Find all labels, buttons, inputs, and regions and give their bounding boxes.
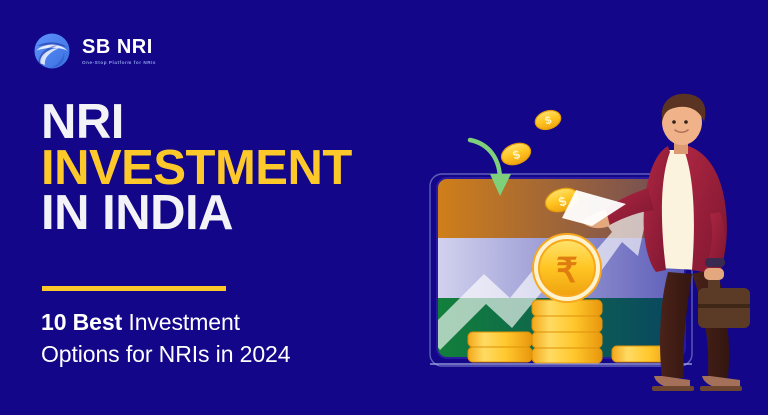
- headline-line-3: IN INDIA: [41, 191, 352, 237]
- subtitle: 10 Best Investment Options for NRIs in 2…: [41, 307, 290, 370]
- globe-swirl-icon: [31, 30, 73, 72]
- coin-stack-left: [468, 332, 532, 362]
- eye-left: [672, 120, 676, 124]
- rupee-coin: ₹: [532, 233, 602, 303]
- wristwatch: [705, 258, 725, 267]
- subtitle-line-1: 10 Best Investment: [41, 307, 290, 339]
- headline-line-2: INVESTMENT: [41, 146, 352, 192]
- banner-root: SB NRI One-Stop Platform for NRIs NRI IN…: [0, 0, 768, 415]
- accent-divider: [42, 286, 226, 291]
- page-title: NRI INVESTMENT IN INDIA: [41, 100, 352, 237]
- subtitle-line-2: Options for NRIs in 2024: [41, 339, 290, 371]
- coin-stack-center: [532, 300, 602, 363]
- falling-coin-2: $: [498, 139, 533, 168]
- brand-logo-text: SB NRI One-Stop Platform for NRIs: [82, 37, 156, 65]
- trousers-left: [660, 272, 692, 378]
- hand-holding: [704, 268, 724, 280]
- illustration-svg: $ $ $: [416, 92, 768, 392]
- headline-line-1: NRI: [41, 100, 352, 146]
- hero-illustration: $ $ $: [416, 92, 768, 392]
- falling-coin-1: $: [533, 107, 563, 132]
- subtitle-strong: 10 Best: [41, 309, 122, 335]
- brand-tagline: One-Stop Platform for NRIs: [82, 60, 156, 65]
- svg-text:₹: ₹: [556, 252, 578, 290]
- brand-name: SB NRI: [82, 37, 156, 58]
- subtitle-rest: Investment: [122, 309, 240, 335]
- eye-right: [684, 120, 688, 124]
- brand-logo[interactable]: SB NRI One-Stop Platform for NRIs: [31, 30, 156, 72]
